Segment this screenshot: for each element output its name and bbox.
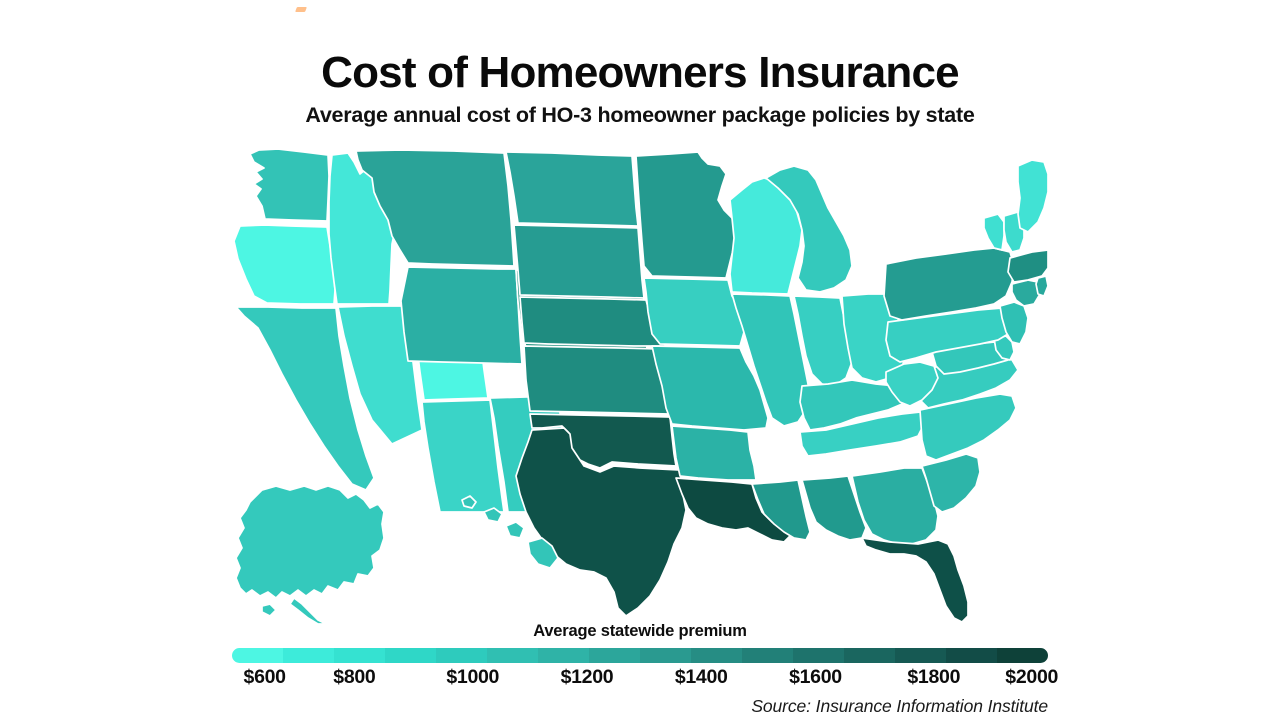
legend-tick-1600: $1600	[789, 666, 842, 689]
state-ar[interactable]: Arkansas: $1250	[672, 426, 756, 480]
states-group: Washington: $1150Oregon: $700California:…	[234, 149, 1048, 624]
legend-tick-1400: $1400	[675, 666, 728, 689]
state-or[interactable]: Oregon: $700	[234, 225, 335, 304]
source-attribution: Source: Insurance Information Institute	[751, 696, 1048, 717]
infographic-page: Cost of Homeowners Insurance Average ann…	[0, 0, 1280, 720]
legend-step-12	[844, 648, 895, 663]
legend-step-5	[487, 648, 538, 663]
legend-tick-1800: $1800	[907, 666, 960, 689]
legend-tick-800: $800	[333, 666, 375, 689]
legend-tick-1000: $1000	[446, 666, 499, 689]
legend-tick-600: $600	[244, 666, 286, 689]
state-mn[interactable]: Minnesota: $1450	[636, 152, 736, 278]
title-block: Cost of Homeowners Insurance Average ann…	[0, 50, 1280, 128]
state-ia[interactable]: Iowa: $1100	[644, 278, 746, 346]
legend-step-0	[232, 648, 283, 663]
legend-step-15	[997, 648, 1048, 663]
legend-step-13	[895, 648, 946, 663]
legend-step-8	[640, 648, 691, 663]
legend-tick-1200: $1200	[561, 666, 614, 689]
state-ak[interactable]: Alaska: $1000	[236, 486, 384, 624]
map-svg: Washington: $1150Oregon: $700California:…	[232, 146, 1048, 624]
legend-step-10	[742, 648, 793, 663]
state-ne[interactable]: Nebraska: $1500	[520, 297, 666, 346]
state-sd[interactable]: South Dakota: $1400	[514, 225, 644, 298]
state-vt[interactable]: Vermont: $850	[984, 214, 1004, 250]
page-subtitle: Average annual cost of HO-3 homeowner pa…	[0, 103, 1280, 129]
state-ri[interactable]: Rhode Island: $1350	[1036, 276, 1048, 296]
state-wa[interactable]: Washington: $1150	[250, 149, 329, 221]
legend-step-11	[793, 648, 844, 663]
legend-color-bar	[232, 648, 1048, 663]
legend-step-3	[385, 648, 436, 663]
legend-title: Average statewide premium	[232, 622, 1048, 641]
legend-step-9	[691, 648, 742, 663]
page-title: Cost of Homeowners Insurance	[0, 50, 1280, 97]
state-nd[interactable]: North Dakota: $1350	[506, 152, 638, 226]
legend-step-6	[538, 648, 589, 663]
us-choropleth-map: Washington: $1150Oregon: $700California:…	[232, 146, 1048, 624]
legend-step-2	[334, 648, 385, 663]
legend-step-4	[436, 648, 487, 663]
legend: Average statewide premium $600$800$1000$…	[232, 622, 1048, 692]
legend-step-1	[283, 648, 334, 663]
state-fl[interactable]: Florida: $1950	[862, 538, 968, 622]
legend-tick-2000: $2000	[1005, 666, 1058, 689]
state-mo[interactable]: Missouri: $1200	[652, 346, 768, 430]
state-wy[interactable]: Wyoming: $1250	[401, 267, 522, 364]
state-me[interactable]: Maine: $800	[1018, 160, 1048, 232]
state-az[interactable]: Arizona: $900	[422, 400, 504, 512]
stray-orange-artifact	[295, 7, 307, 12]
legend-step-7	[589, 648, 640, 663]
state-ks[interactable]: Kansas: $1500	[524, 346, 668, 414]
legend-step-14	[946, 648, 997, 663]
legend-tick-labels: $600$800$1000$1200$1400$1600$1800$2000	[232, 666, 1048, 692]
